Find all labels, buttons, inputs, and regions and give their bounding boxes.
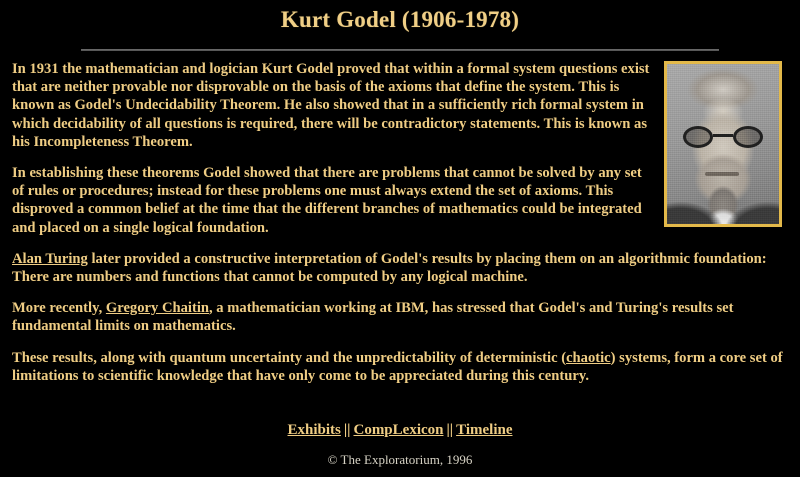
paragraph-limitations: These results, along with quantum uncert… <box>12 349 786 385</box>
link-alan-turing[interactable]: Alan Turing <box>12 251 88 267</box>
footer-separator-1: || <box>341 422 354 438</box>
link-gregory-chaitin[interactable]: Gregory Chaitin <box>106 300 209 316</box>
copyright-notice: © The Exploratorium, 1996 <box>0 452 800 468</box>
paragraph-turing-text: later provided a constructive interpreta… <box>12 251 767 285</box>
article-body: In 1931 the mathematician and logician K… <box>0 51 800 385</box>
godel-portrait-image <box>664 61 782 227</box>
page-title: Kurt Godel (1906-1978) <box>0 0 800 33</box>
paragraph-limitations-prefix: These results, along with quantum uncert… <box>12 350 566 366</box>
footer-link-timeline[interactable]: Timeline <box>456 422 512 438</box>
paragraph-chaitin: More recently, Gregory Chaitin, a mathem… <box>12 299 786 335</box>
link-chaotic[interactable]: chaotic <box>566 350 611 366</box>
footer-separator-2: || <box>443 422 456 438</box>
portrait-grain-overlay <box>667 64 779 224</box>
paragraph-chaitin-prefix: More recently, <box>12 300 106 316</box>
paragraph-turing: Alan Turing later provided a constructiv… <box>12 250 786 286</box>
footer-link-exhibits[interactable]: Exhibits <box>288 422 341 438</box>
footer-navigation: Exhibits||CompLexicon||Timeline <box>0 422 800 439</box>
document-page: Kurt Godel (1906-1978) In 1931 the mathe… <box>0 0 800 477</box>
footer-link-complexicon[interactable]: CompLexicon <box>353 422 443 438</box>
